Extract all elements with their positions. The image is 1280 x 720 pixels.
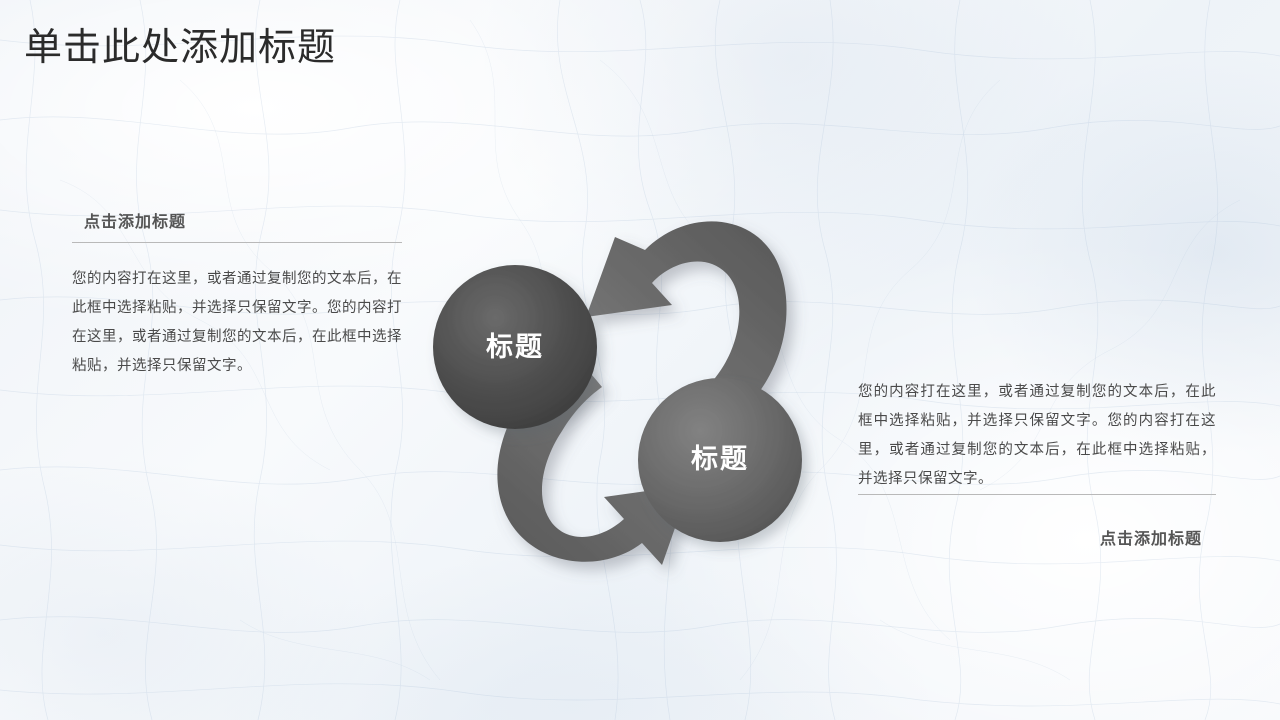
left-divider xyxy=(72,242,402,243)
node-circle-lower xyxy=(638,378,802,542)
right-divider xyxy=(858,494,1216,495)
cycle-diagram: 标题 标题 xyxy=(390,165,860,595)
left-text-block: 点击添加标题 您的内容打在这里，或者通过复制您的文本后，在此框中选择粘贴，并选择… xyxy=(72,208,402,381)
slide-canvas: 单击此处添加标题 xyxy=(0,0,1280,720)
cycle-diagram-svg xyxy=(390,165,860,595)
node-circle-upper xyxy=(433,265,597,429)
right-section-body: 您的内容打在这里，或者通过复制您的文本后，在此框中选择粘贴，并选择只保留文字。您… xyxy=(858,378,1216,494)
right-section-heading: 点击添加标题 xyxy=(858,513,1216,549)
left-section-heading: 点击添加标题 xyxy=(72,208,402,242)
page-title: 单击此处添加标题 xyxy=(24,26,336,72)
left-section-body: 您的内容打在这里，或者通过复制您的文本后，在此框中选择粘贴，并选择只保留文字。您… xyxy=(72,265,402,381)
right-text-block: 您的内容打在这里，或者通过复制您的文本后，在此框中选择粘贴，并选择只保留文字。您… xyxy=(858,378,1216,549)
